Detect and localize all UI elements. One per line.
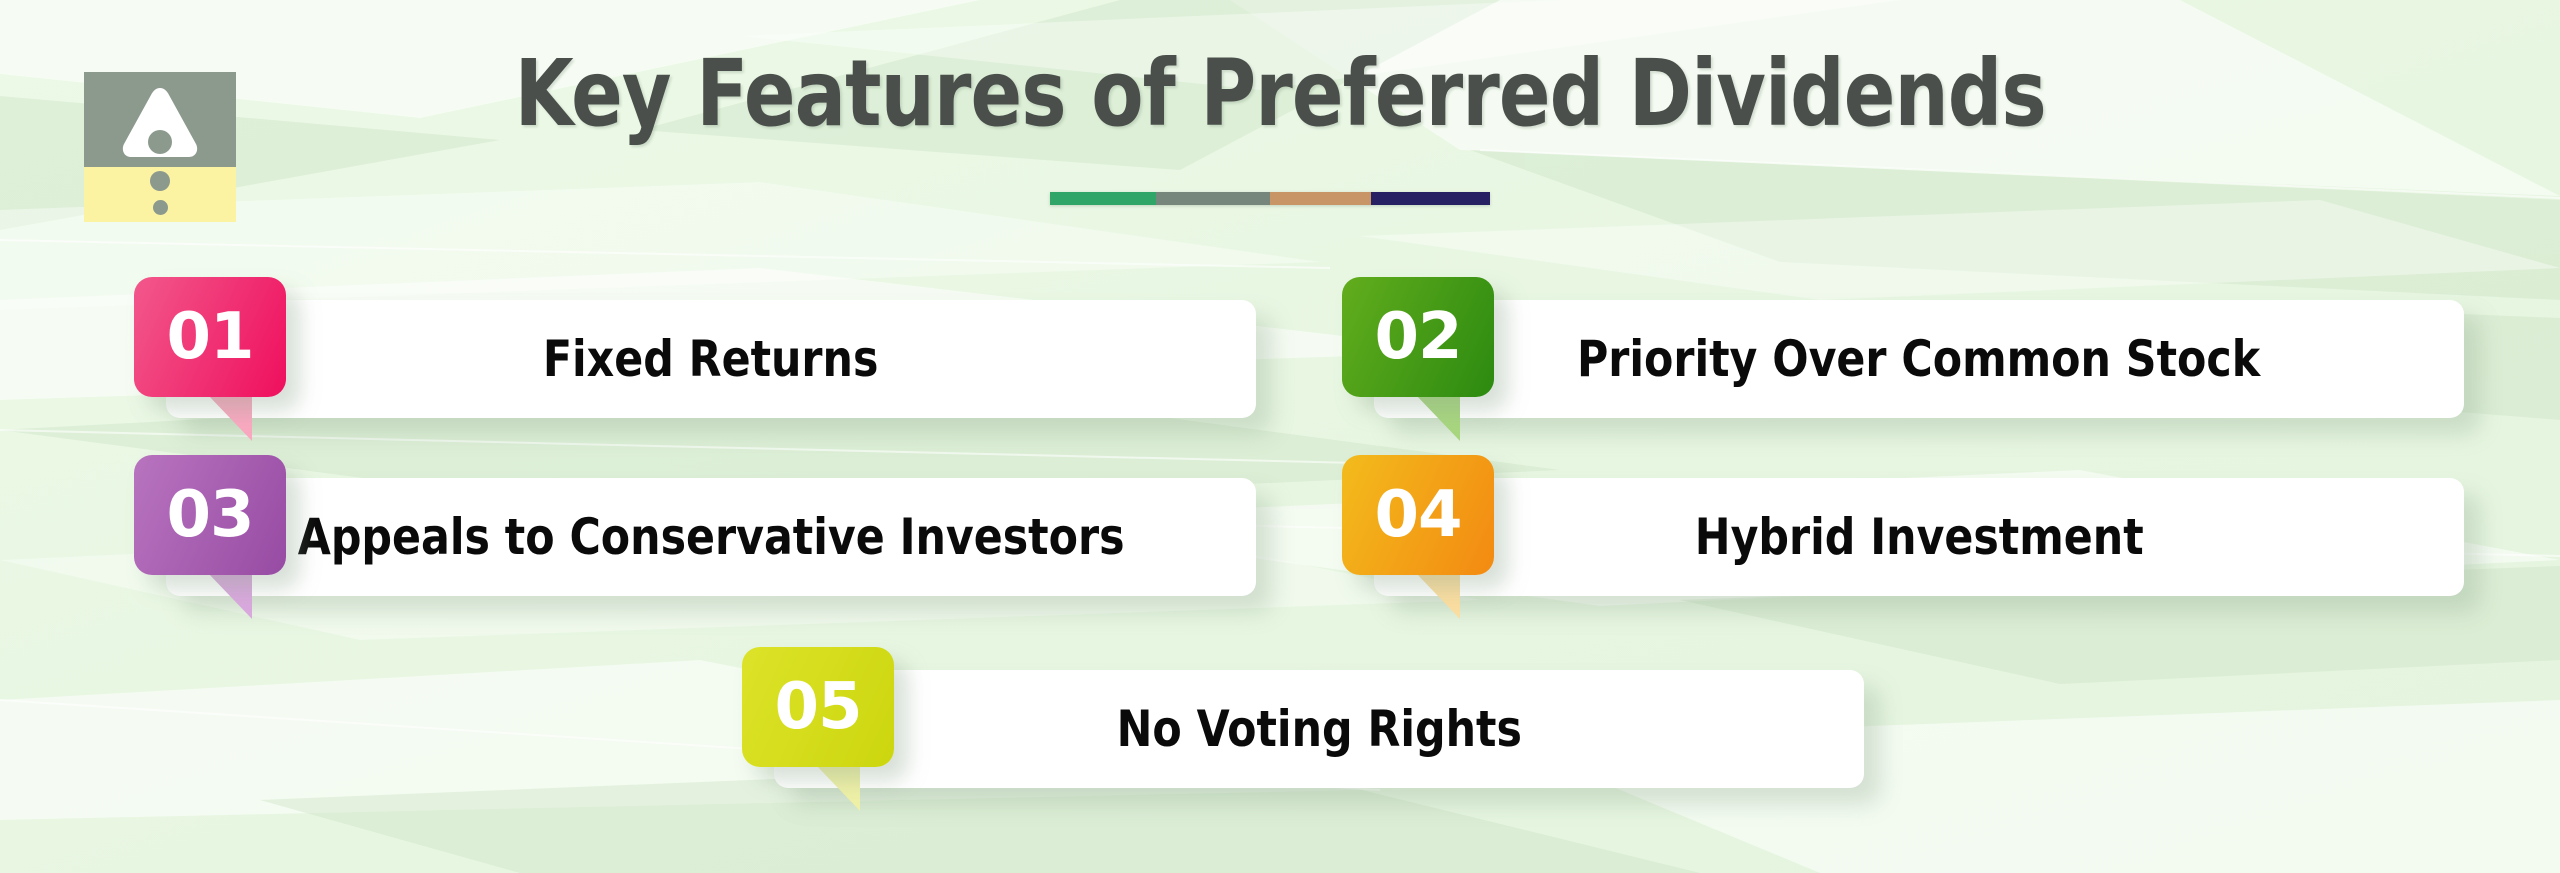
feature-card-03[interactable]: Appeals to Conservative Investors03: [134, 478, 1256, 596]
title-underline-rule: [1050, 192, 1490, 205]
logo-dot-lower: [153, 200, 168, 215]
badge-number: 01: [166, 305, 253, 369]
feature-card-label: Priority Over Common Stock: [1577, 330, 2260, 388]
feature-card-badge: 03: [134, 455, 298, 619]
badge-number: 05: [774, 675, 861, 739]
feature-card-badge: 02: [1342, 277, 1506, 441]
feature-card-label: Appeals to Conservative Investors: [298, 508, 1125, 566]
badge-box: 05: [742, 647, 894, 767]
feature-card-05[interactable]: No Voting Rights05: [742, 670, 1864, 788]
feature-card-badge: 04: [1342, 455, 1506, 619]
page-title: Key Features of Preferred Dividends: [0, 48, 2560, 140]
rule-segment-tan: [1270, 192, 1371, 205]
badge-box: 03: [134, 455, 286, 575]
feature-card-04[interactable]: Hybrid Investment04: [1342, 478, 2464, 596]
feature-card-panel: No Voting Rights: [774, 670, 1864, 788]
feature-card-label: Hybrid Investment: [1695, 508, 2144, 566]
badge-box: 02: [1342, 277, 1494, 397]
feature-card-label: No Voting Rights: [1116, 700, 1521, 758]
feature-card-label: Fixed Returns: [543, 330, 879, 388]
badge-tail-triangle: [1416, 395, 1460, 441]
feature-card-panel: Appeals to Conservative Investors: [166, 478, 1256, 596]
feature-card-badge: 01: [134, 277, 298, 441]
rule-segment-green: [1050, 192, 1156, 205]
badge-number: 04: [1374, 483, 1461, 547]
rule-segment-gray: [1156, 192, 1270, 205]
page-title-text: Key Features of Preferred Dividends: [514, 48, 2045, 140]
badge-tail-triangle: [208, 573, 252, 619]
badge-number: 02: [1374, 305, 1461, 369]
badge-number: 03: [166, 483, 253, 547]
rule-segment-navy: [1371, 192, 1490, 205]
feature-card-02[interactable]: Priority Over Common Stock02: [1342, 300, 2464, 418]
badge-box: 01: [134, 277, 286, 397]
badge-tail-triangle: [208, 395, 252, 441]
badge-tail-triangle: [1416, 573, 1460, 619]
feature-card-panel: Fixed Returns: [166, 300, 1256, 418]
feature-card-panel: Hybrid Investment: [1374, 478, 2464, 596]
logo-dot-upper: [150, 171, 170, 191]
feature-card-panel: Priority Over Common Stock: [1374, 300, 2464, 418]
badge-tail-triangle: [816, 765, 860, 811]
feature-card-01[interactable]: Fixed Returns01: [134, 300, 1256, 418]
feature-card-badge: 05: [742, 647, 906, 811]
badge-box: 04: [1342, 455, 1494, 575]
